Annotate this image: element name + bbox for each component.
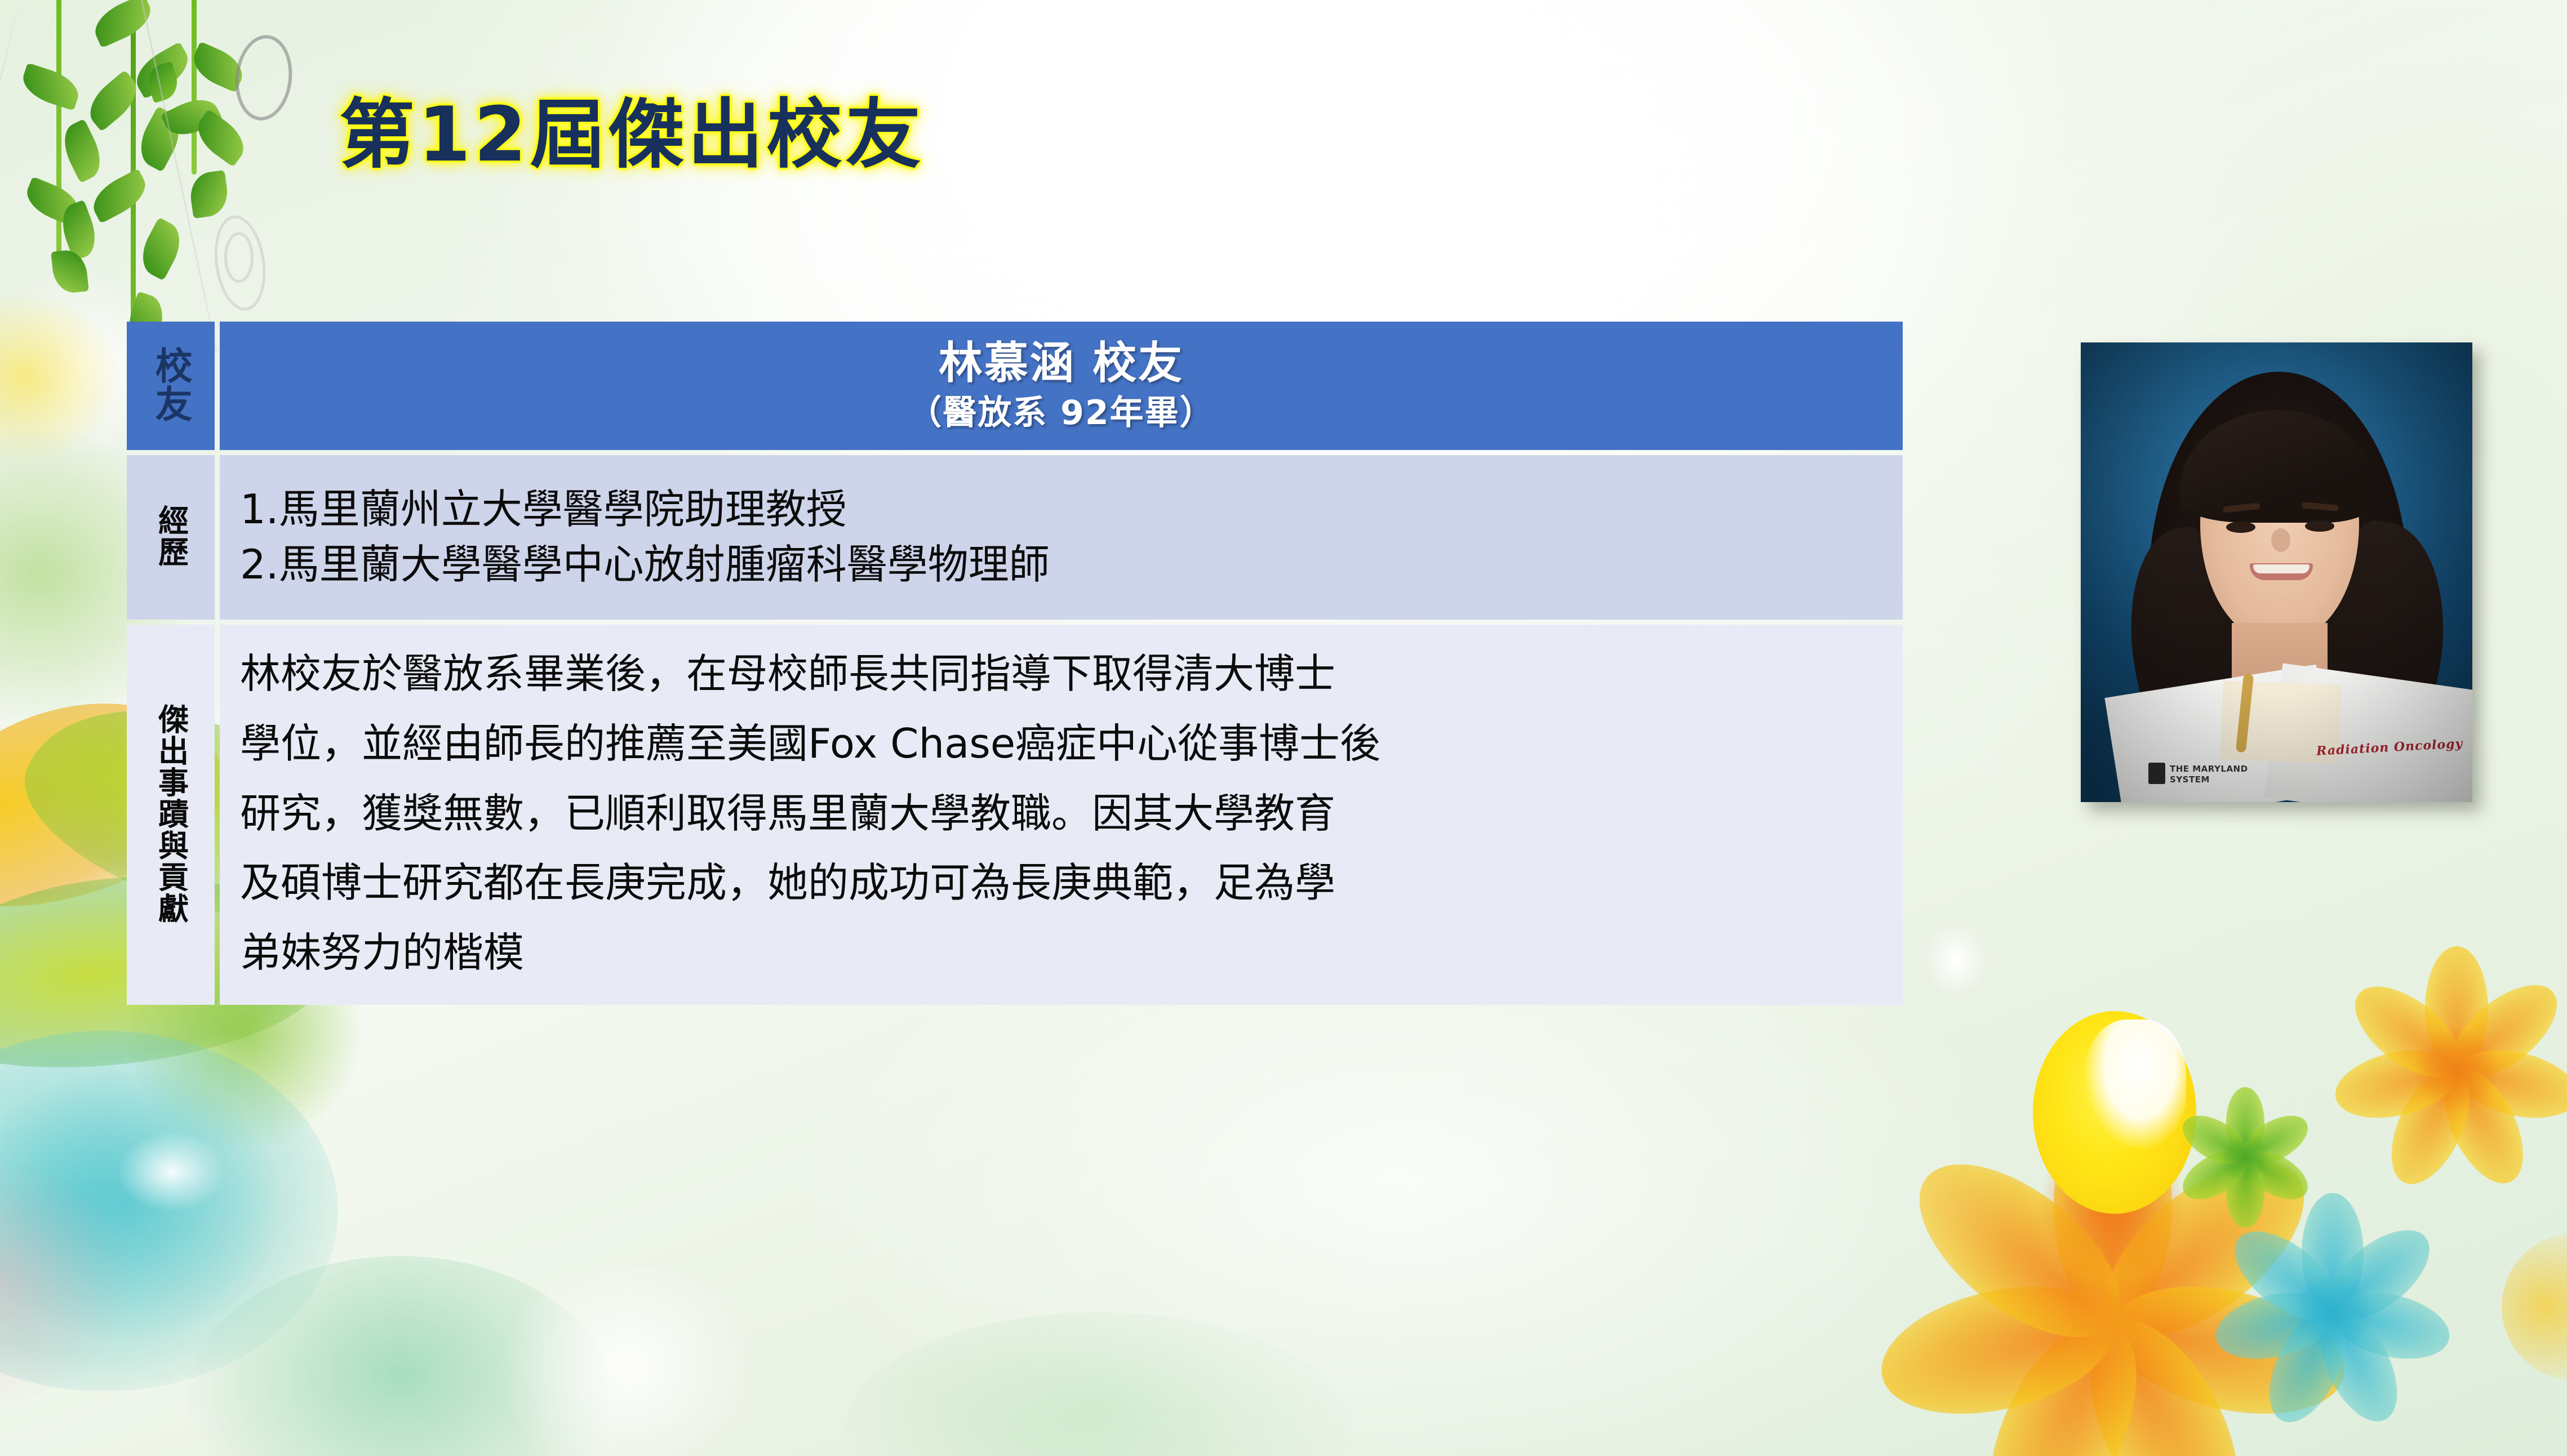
achievement-line: 及碩博士研究都在長庚完成，她的成功可為長庚典範，足為學 [240, 848, 1880, 918]
experience-cell: 1.馬里蘭州立大學醫學院助理教授 2.馬里蘭大學醫學中心放射腫瘤科醫學物理師 [220, 455, 1903, 620]
achievement-line: 學位，並經由師長的推薦至美國Fox Chase癌症中心從事博士後 [240, 709, 1880, 779]
decor-vine-stem-3 [192, 0, 197, 175]
experience-line: 2.馬里蘭大學醫學中心放射腫瘤科醫學物理師 [240, 537, 1903, 593]
decor-flower-teal [2214, 1194, 2451, 1431]
alumni-name: 林慕涵 校友 [220, 337, 1903, 390]
alumni-info-table: 校友 林慕涵 校友 （醫放系 92年畢） 經歷 1.馬里蘭州立大學醫學院助理教授… [122, 317, 1908, 1010]
row-label-achievements: 傑出事蹟與貢獻 [127, 625, 215, 1005]
achievement-line: 弟妹努力的楷模 [240, 918, 1880, 988]
achievement-line: 研究，獲獎無數，已順利取得馬里蘭大學教職。因其大學教育 [240, 779, 1880, 849]
achievements-cell: 林校友於醫放系畢業後，在母校師長共同指導下取得清大博士 學位，並經由師長的推薦至… [220, 625, 1903, 1005]
table-row-experience: 經歷 1.馬里蘭州立大學醫學院助理教授 2.馬里蘭大學醫學中心放射腫瘤科醫學物理… [127, 455, 1903, 620]
photo-vignette [2081, 342, 2472, 802]
table-row-alumni: 校友 林慕涵 校友 （醫放系 92年畢） [127, 322, 1903, 450]
row-label-text: 經歷 [155, 505, 186, 568]
alumni-name-cell: 林慕涵 校友 （醫放系 92年畢） [220, 322, 1903, 450]
experience-line: 1.馬里蘭州立大學醫學院助理教授 [240, 482, 1903, 537]
decor-swirl-icon [224, 232, 254, 283]
page-title: 第12屆傑出校友 [339, 90, 924, 179]
row-label-text: 校友 [152, 346, 189, 423]
row-label-text: 傑出事蹟與貢獻 [155, 703, 186, 924]
achievement-line: 林校友於醫放系畢業後，在母校師長共同指導下取得清大博士 [240, 639, 1880, 709]
row-label-experience: 經歷 [127, 455, 215, 620]
decor-flower-yellow-upper [2333, 946, 2567, 1194]
table-row-achievements: 傑出事蹟與貢獻 林校友於醫放系畢業後，在母校師長共同指導下取得清大博士 學位，並… [127, 625, 1903, 1005]
alumni-department-year: （醫放系 92年畢） [220, 391, 1903, 435]
row-label-alumni: 校友 [127, 322, 215, 450]
alumni-photo: Radiation Oncology THE MARYLAND SYSTEM [2081, 342, 2472, 802]
decor-blob-white-1 [118, 1132, 225, 1211]
